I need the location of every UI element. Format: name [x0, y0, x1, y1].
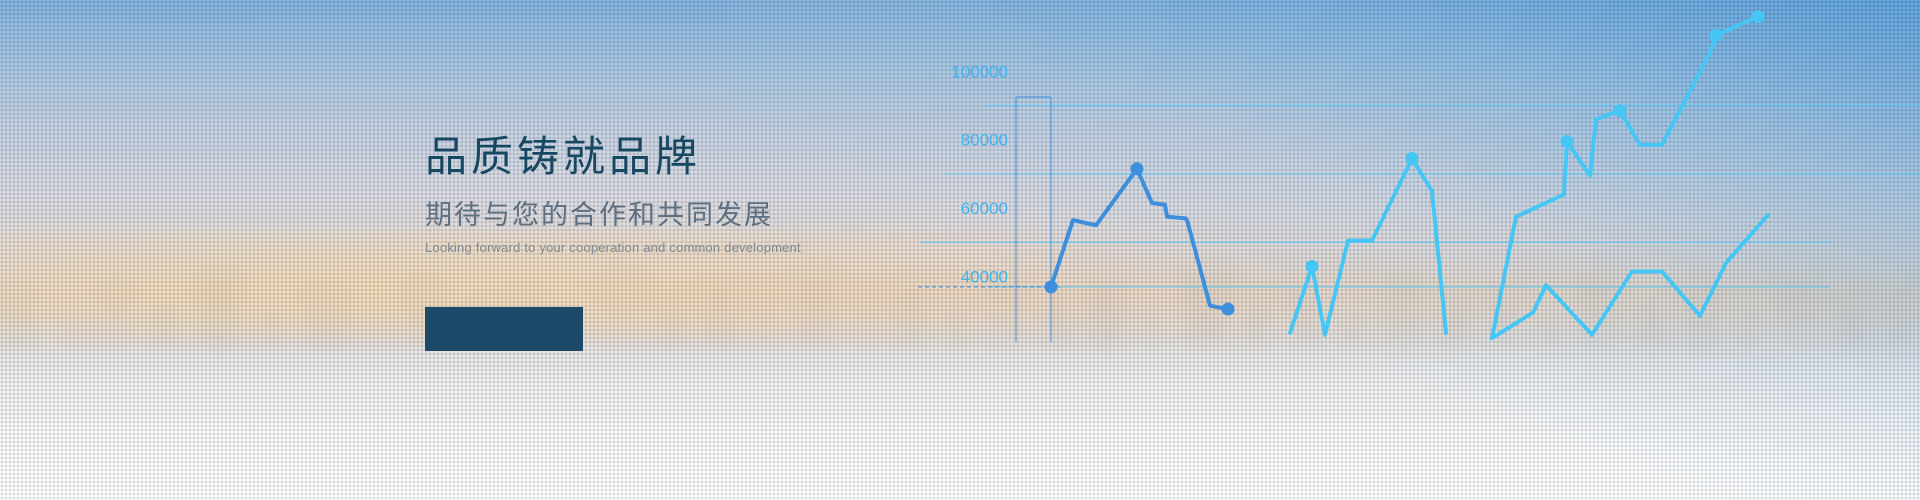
chart-y-tick-label: 60000 [961, 199, 1008, 218]
chart-series-line [1051, 169, 1228, 309]
chart-y-tick-label: 80000 [961, 131, 1008, 150]
chart-data-point-marker [1561, 135, 1574, 148]
chart-data-point-marker [1222, 303, 1235, 316]
chart-data-point-marker [1406, 152, 1419, 165]
chart-data-point-marker [1306, 260, 1319, 273]
chart-series-line [1290, 159, 1446, 335]
hero-banner: 品质铸就品牌 期待与您的合作和共同发展 Looking forward to y… [0, 0, 1920, 500]
line-chart: 100000800006000040000 [900, 0, 1920, 500]
chart-series-line [1492, 215, 1768, 338]
chart-data-point-marker [1131, 162, 1144, 175]
chart-svg: 100000800006000040000 [900, 0, 1920, 500]
chart-data-point-marker [1710, 29, 1723, 42]
chart-y-tick-label: 40000 [961, 268, 1008, 287]
chart-data-point-marker [1045, 280, 1058, 293]
chart-y-tick-label: 100000 [951, 62, 1008, 81]
chart-series-line [1492, 17, 1758, 339]
chart-data-point-marker [1752, 10, 1765, 23]
chart-data-point-marker [1614, 104, 1627, 117]
banner-cta-button[interactable] [425, 307, 583, 351]
chart-axis-box [1016, 97, 1051, 342]
chart-gridlines [918, 106, 1920, 287]
